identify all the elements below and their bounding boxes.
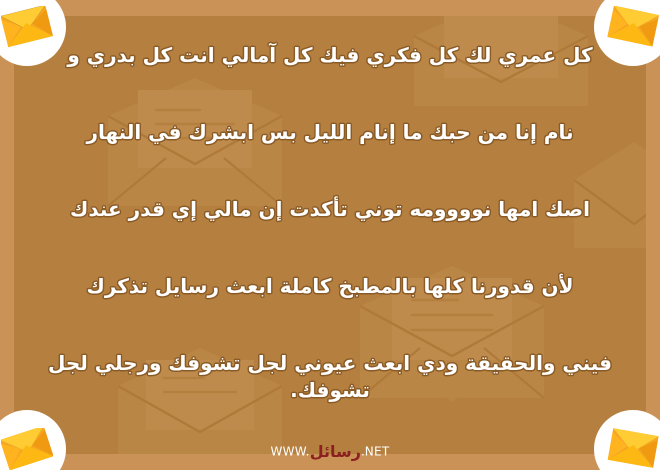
- greeting-card: كل عمري لك كل فكري فيك كل آمالي انت كل ب…: [0, 0, 660, 470]
- message-line: كل عمري لك كل فكري فيك كل آمالي انت كل ب…: [18, 42, 642, 69]
- watermark-arabic-name: رسائل: [310, 442, 361, 461]
- message-line: اصك امها نوووومه توني تأكدت إن مالي إي ق…: [18, 196, 642, 223]
- watermark-suffix: .NET: [361, 445, 390, 459]
- message-text-block: كل عمري لك كل فكري فيك كل آمالي انت كل ب…: [0, 0, 660, 470]
- site-watermark: WWW.رسائل.NET: [0, 442, 660, 461]
- watermark-prefix: WWW.: [270, 445, 309, 459]
- envelope-icon: [1, 6, 53, 48]
- envelope-icon: [607, 6, 659, 48]
- message-line: فيني والحقيقة ودي ابعث عيوني لجل تشوفك و…: [18, 350, 642, 404]
- message-line: لأن قدورنا كلها بالمطبخ كاملة ابعث رسايل…: [18, 273, 642, 300]
- message-line: نام إنا من حبك ما إنام الليل بس ابشرك في…: [18, 119, 642, 146]
